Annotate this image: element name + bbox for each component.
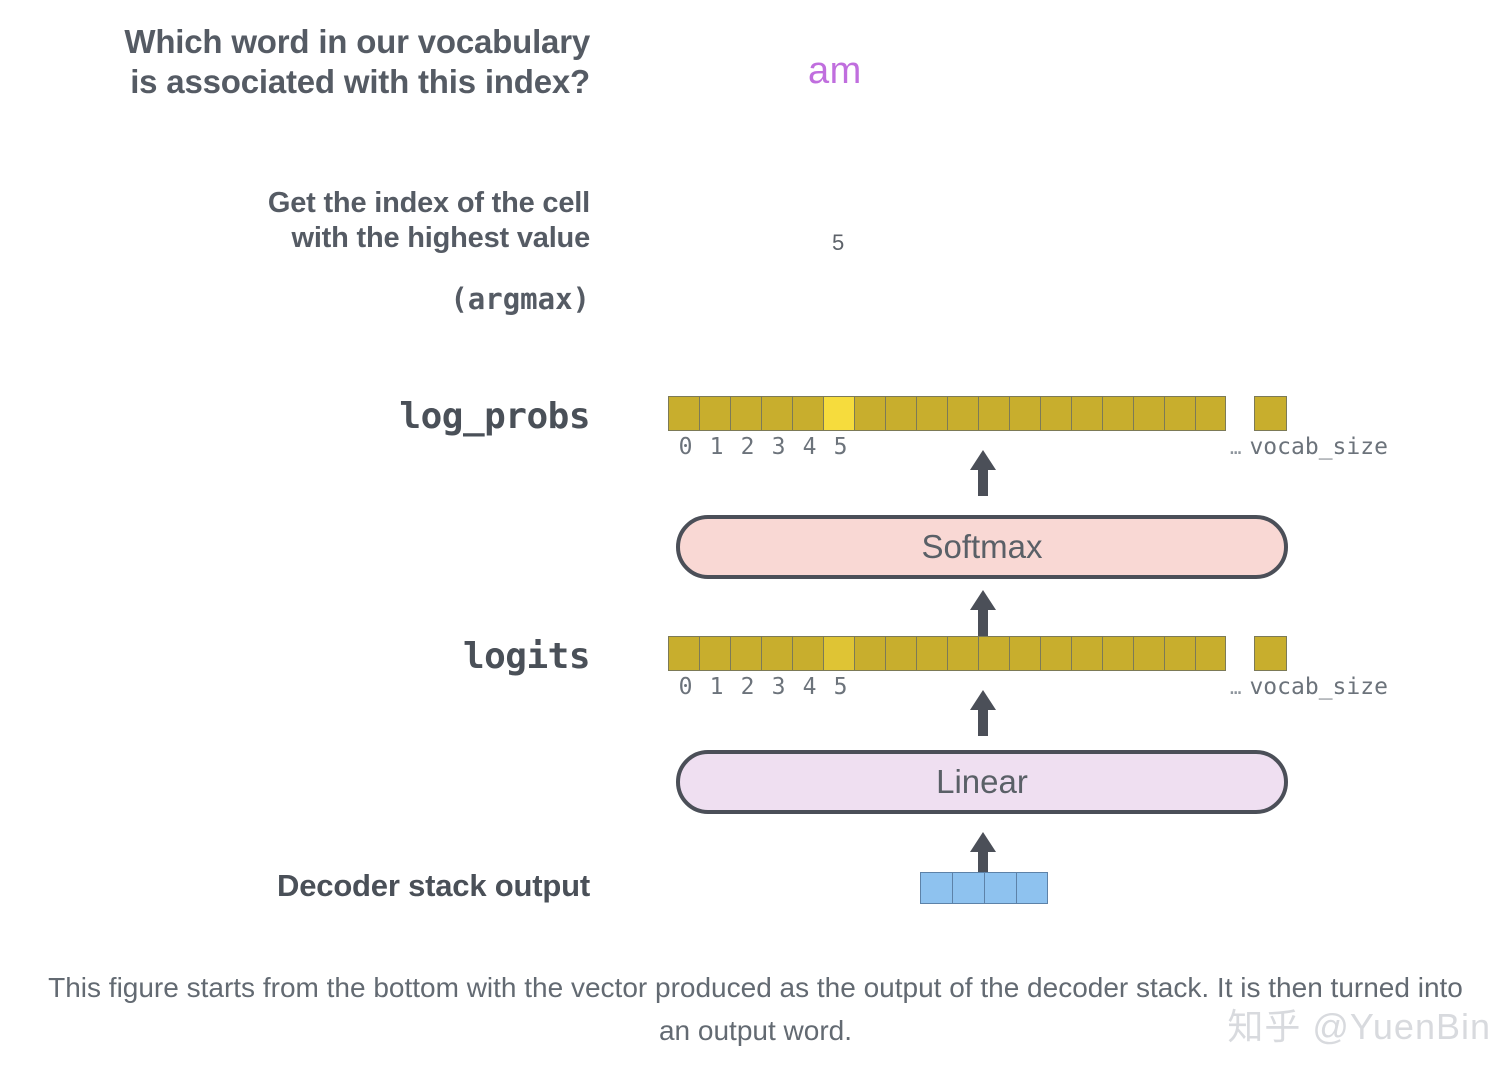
vector-cell <box>854 636 885 671</box>
tick-label: 5 <box>825 434 856 460</box>
watermark: 知乎 @YuenBin <box>1227 998 1491 1050</box>
vector-cell <box>978 396 1009 431</box>
diagram-canvas: Which word in our vocabulary is associat… <box>0 0 1511 1083</box>
vector-cell <box>730 636 761 671</box>
vector-cell <box>1133 396 1164 431</box>
vector-logits: 012345 …vocab_size <box>668 636 1287 671</box>
log-probs-last-cell <box>1254 396 1287 431</box>
op-box-linear: Linear <box>676 750 1288 814</box>
vector-cell <box>1071 396 1102 431</box>
arrow-head <box>970 690 996 710</box>
vector-cell <box>1164 636 1195 671</box>
tick-label: 2 <box>732 434 763 460</box>
vector-cell <box>823 396 854 431</box>
tick-label: 1 <box>701 674 732 700</box>
vector-cell <box>668 636 699 671</box>
decoder-output-cell <box>984 872 1016 904</box>
vector-cell <box>916 396 947 431</box>
tick-label: 4 <box>794 674 825 700</box>
question-argmax: Get the index of the cell with the highe… <box>20 186 590 257</box>
vector-cell <box>1040 636 1071 671</box>
vector-cell <box>761 636 792 671</box>
arrow-up-icon-logits-to-softmax <box>970 590 996 636</box>
vector-cell <box>699 636 730 671</box>
vector-cell <box>1009 636 1040 671</box>
tick-label: 0 <box>670 434 701 460</box>
argmax-token-label: (argmax) <box>20 282 590 316</box>
ellipsis-icon: … <box>1230 677 1241 699</box>
vector-cell <box>885 636 916 671</box>
vector-cell <box>1102 396 1133 431</box>
vector-cell <box>792 396 823 431</box>
vector-cell <box>730 396 761 431</box>
tick-label: 4 <box>794 434 825 460</box>
vector-cell <box>854 396 885 431</box>
arrow-head <box>970 590 996 610</box>
vector-cell <box>885 396 916 431</box>
vocab-size-text: vocab_size <box>1249 434 1387 460</box>
vector-cell <box>761 396 792 431</box>
vector-cell <box>1133 636 1164 671</box>
arrow-up-icon-softmax-to-log-probs <box>970 450 996 496</box>
vector-cell <box>1040 396 1071 431</box>
log-probs-vocab-size-label: …vocab_size <box>1230 434 1388 460</box>
tick-label: 3 <box>763 674 794 700</box>
vector-cell <box>1195 396 1226 431</box>
vector-decoder-stack-output <box>920 872 1048 904</box>
tick-label: 5 <box>825 674 856 700</box>
vector-cell <box>916 636 947 671</box>
op-box-softmax: Softmax <box>676 515 1288 579</box>
decoder-output-cell <box>920 872 952 904</box>
decoder-output-cell <box>952 872 984 904</box>
row-label-decoder-stack-output: Decoder stack output <box>0 868 590 904</box>
arrow-head <box>970 450 996 470</box>
question-vocabulary-lookup: Which word in our vocabulary is associat… <box>20 22 590 103</box>
argmax-index-value: 5 <box>832 230 844 256</box>
logits-cells <box>668 636 1226 671</box>
output-word: am <box>808 50 862 93</box>
tick-label: 0 <box>670 674 701 700</box>
tick-label: 1 <box>701 434 732 460</box>
arrow-shaft <box>978 470 988 496</box>
vector-cell <box>1102 636 1133 671</box>
vector-cell <box>823 636 854 671</box>
logits-last-cell <box>1254 636 1287 671</box>
vector-cell <box>947 636 978 671</box>
vector-cell <box>978 636 1009 671</box>
tick-label: 2 <box>732 674 763 700</box>
ellipsis-icon: … <box>1230 437 1241 459</box>
tick-label: 3 <box>763 434 794 460</box>
arrow-shaft <box>978 710 988 736</box>
vector-cell <box>1164 396 1195 431</box>
vector-cell <box>1071 636 1102 671</box>
vector-cell <box>947 396 978 431</box>
vector-cell <box>1195 636 1226 671</box>
arrow-head <box>970 832 996 852</box>
vector-cell <box>668 396 699 431</box>
vector-cell <box>792 636 823 671</box>
logits-tick-labels: 012345 <box>670 674 856 700</box>
vocab-size-text: vocab_size <box>1249 674 1387 700</box>
arrow-up-icon-linear-to-logits <box>970 690 996 736</box>
vector-log-probs: 012345 …vocab_size <box>668 396 1287 431</box>
vector-cell <box>699 396 730 431</box>
arrow-shaft <box>978 610 988 636</box>
row-label-logits: logits <box>0 636 590 677</box>
log-probs-tick-labels: 012345 <box>670 434 856 460</box>
logits-vocab-size-label: …vocab_size <box>1230 674 1388 700</box>
decoder-output-cell <box>1016 872 1048 904</box>
log-probs-cells <box>668 396 1226 431</box>
vector-cell <box>1009 396 1040 431</box>
row-label-log-probs: log_probs <box>0 396 590 437</box>
